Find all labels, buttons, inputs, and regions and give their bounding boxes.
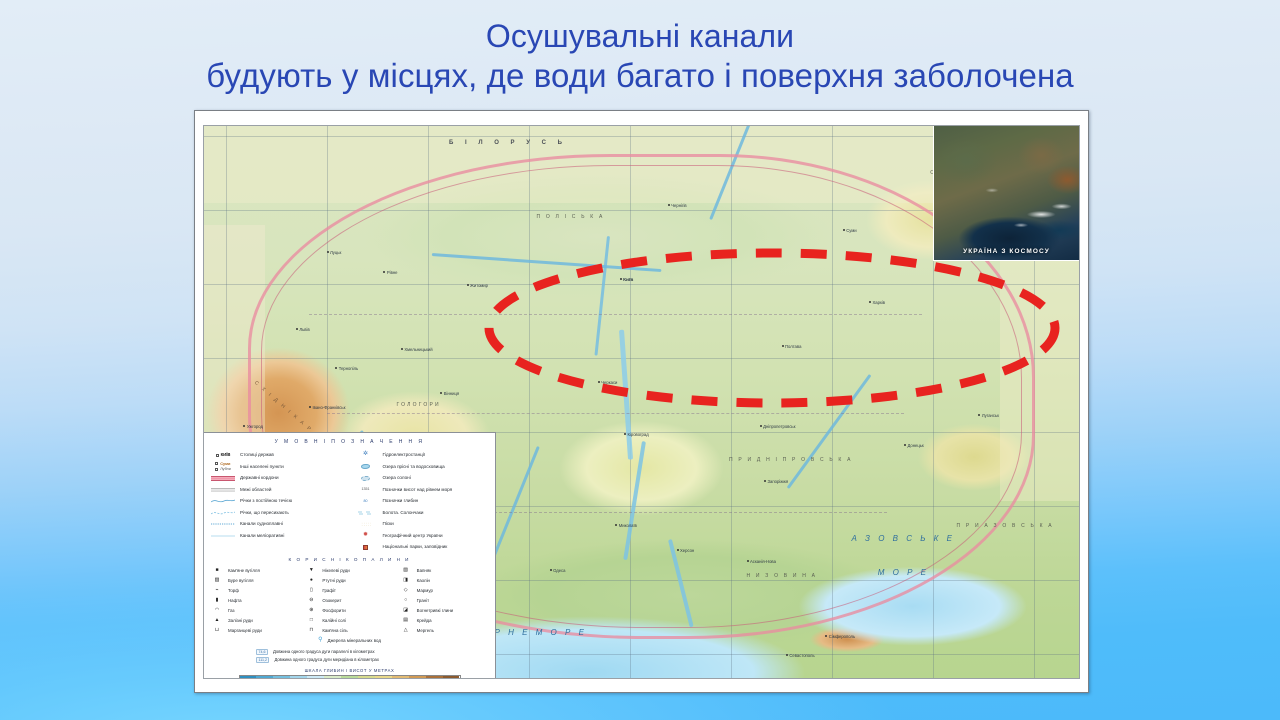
legend-label: Гідроелектростанції <box>383 452 426 458</box>
legend-label: Канали судноплавні <box>240 521 283 527</box>
map-legend-panel: У М О В Н І П О З Н А Ч Е Н Н Я КИЇВ Сто… <box>204 432 496 678</box>
mineral-item-iron-ore: ▲Залізні руди <box>210 615 300 625</box>
legend-item-permanent-rivers: Річки з постійною течією <box>210 495 347 507</box>
degree-meridian-label: Довжина одного градуса дуги меридіана в … <box>274 657 379 662</box>
marl-icon: △ <box>399 627 413 633</box>
mineral-item-mercury-ore: ●Ртутні руди <box>304 575 394 585</box>
degree-meridian-row: 111,2 Довжина одного градуса дуги мериді… <box>256 656 489 664</box>
legend-label: Національні парки, заповідник <box>383 544 448 550</box>
marsh-icon <box>353 510 379 516</box>
circle-marker-icon <box>215 462 218 465</box>
fresh-lake-icon <box>353 464 379 469</box>
minerals-column-1: ■Кам'яне вугілля ▨Буре вугілля ⌁Торф ▮На… <box>210 565 300 635</box>
hypsometric-swatch-9 <box>392 676 409 679</box>
intermittent-river-symbol <box>210 510 236 516</box>
legend-item-marshes: Болота. Солончаки <box>353 507 490 519</box>
oil-icon: ▮ <box>210 597 224 603</box>
national-park-icon <box>353 545 379 550</box>
mineral-item-manganese-ore: ⊔Марганцеві руди <box>210 625 300 635</box>
legend-column-left: КИЇВ Столиці держав Суми Лубни <box>210 449 347 553</box>
legend-item-hydro-plants: ✲ Гідроелектростанції <box>353 449 490 461</box>
presentation-slide: Осушувальні канали будують у місцях, де … <box>0 0 1280 720</box>
slide-title-block: Осушувальні канали будують у місцях, де … <box>0 16 1280 96</box>
peat-icon: ⌁ <box>210 587 224 593</box>
mineral-water-icon: ⚲ <box>318 637 322 645</box>
legend-label: Річки з постійною течією <box>240 498 292 504</box>
legend-item-geo-center: ✹ Географічний центр України <box>353 530 490 542</box>
square-marker-icon <box>216 454 219 457</box>
page-title-line-1: Осушувальні канали <box>0 16 1280 56</box>
hypsometric-swatch-4 <box>307 676 324 679</box>
minerals-column-3: ▧Вапняк ◨Каолін ◇Мармур ○Граніт ◪Вогнетр… <box>399 565 489 635</box>
mineral-item-marble: ◇Мармур <box>399 585 489 595</box>
mineral-item-peat: ⌁Торф <box>210 585 300 595</box>
rock-salt-icon: ⊓ <box>304 627 318 633</box>
legend-label: Озера солоні <box>383 475 411 481</box>
gas-icon: ◠ <box>210 607 224 613</box>
degree-parallel-badge: 74,6 <box>256 649 268 655</box>
hypsometric-color-bar <box>239 675 461 679</box>
depth-mark-icon: 80 <box>353 499 379 503</box>
legend-label: Столиці держав <box>240 452 274 458</box>
granite-icon: ○ <box>399 597 413 603</box>
mineral-label: Залізні руди <box>228 618 253 624</box>
legend-sample-kyiv: КИЇВ <box>221 453 231 457</box>
legend-label: Болота. Солончаки <box>383 510 424 516</box>
legend-heading: У М О В Н І П О З Н А Ч Е Н Н Я <box>210 439 489 445</box>
legend-sample-sumy: Суми <box>220 462 230 466</box>
marble-icon: ◇ <box>399 587 413 593</box>
state-border-symbol <box>210 476 236 481</box>
map-neatline: Б І Л О Р У С Ь Р О С І Я М О Л Д О В А … <box>203 125 1080 679</box>
graphite-icon: ▯ <box>304 587 318 593</box>
hypsometric-swatch-1 <box>256 676 273 679</box>
mineral-label: Ртутні руди <box>322 578 345 584</box>
legend-label: Державні кордони <box>240 475 279 481</box>
potassium-salt-icon: □ <box>304 617 318 623</box>
mineral-label: Кам'яне вугілля <box>228 568 260 574</box>
mineral-label: Торф <box>228 588 239 594</box>
nickel-ore-icon: ▼ <box>304 567 318 573</box>
legend-sample-lubny: Лубни <box>220 467 231 471</box>
settlements-symbol: Суми Лубни <box>210 462 236 472</box>
phosphorite-icon: ⊕ <box>304 607 318 613</box>
mineral-label: Газ <box>228 608 235 614</box>
hypsometric-swatch-2 <box>273 676 290 679</box>
legend-item-settlements: Суми Лубни Інші населені пункти <box>210 461 347 473</box>
legend-label: Позначки глибин <box>383 498 419 504</box>
degree-meridian-badge: 111,2 <box>256 657 269 663</box>
minerals-columns: ■Кам'яне вугілля ▨Буре вугілля ⌁Торф ▮На… <box>210 565 489 635</box>
mineral-label: Вогнетривкі глини <box>417 608 453 614</box>
refractory-clay-icon: ◪ <box>399 607 413 613</box>
sands-icon <box>353 522 379 527</box>
mercury-ore-icon: ● <box>304 577 318 583</box>
mineral-label: Калійні солі <box>322 618 346 624</box>
mineral-item-graphite: ▯Графіт <box>304 585 394 595</box>
legend-item-drainage-canals: Канали меліоративні <box>210 530 347 542</box>
legend-item-salt-lakes: Озера солоні <box>353 472 490 484</box>
legend-label: Позначки висот над рівнем моря <box>383 487 453 493</box>
mineral-label: Марганцеві руди <box>228 628 262 634</box>
hypsometric-swatch-8 <box>375 676 392 679</box>
legend-label: Межі областей <box>240 487 271 493</box>
minerals-column-2: ▼Нікелеві руди ●Ртутні руди ▯Графіт ⊖Озо… <box>304 565 394 635</box>
mineral-label: Крейда <box>417 618 432 624</box>
mineral-item-oil: ▮Нафта <box>210 595 300 605</box>
limestone-icon: ▧ <box>399 567 413 573</box>
mineral-item-ozokerite: ⊖Озокерит <box>304 595 394 605</box>
legend-label: Піски <box>383 521 394 527</box>
ozokerite-icon: ⊖ <box>304 597 318 603</box>
mineral-label: Каолін <box>417 578 430 584</box>
mineral-item-gas: ◠Газ <box>210 605 300 615</box>
hard-coal-icon: ■ <box>210 567 224 573</box>
mineral-item-nickel-ore: ▼Нікелеві руди <box>304 565 394 575</box>
mineral-item-refractory-clays: ◪Вогнетривкі глини <box>399 605 489 615</box>
mineral-label: Озокерит <box>322 598 341 604</box>
legend-item-oblast-borders: Межі областей <box>210 484 347 496</box>
legend-item-depth-marks: 80 Позначки глибин <box>353 495 490 507</box>
mineral-label: Кам'яна сіль <box>322 628 347 634</box>
legend-label: Географічний центр України <box>383 533 443 539</box>
mineral-item-potassium-salts: □Калійні солі <box>304 615 394 625</box>
circle-marker-icon <box>215 468 218 471</box>
legend-item-sands: Піски <box>353 518 490 530</box>
manganese-ore-icon: ⊔ <box>210 627 224 633</box>
legend-item-intermittent-rivers: Річки, що пересихають <box>210 507 347 519</box>
mineral-item-granite: ○Граніт <box>399 595 489 605</box>
mineral-label: Нікелеві руди <box>322 568 349 574</box>
iron-ore-icon: ▲ <box>210 617 224 623</box>
page-title-line-2: будують у місцях, де води багато і повер… <box>0 56 1280 96</box>
hypsometric-swatch-12 <box>443 676 460 679</box>
legend-label: Інші населені пункти <box>240 464 284 470</box>
capitals-symbol: КИЇВ <box>210 453 236 457</box>
mineral-label: Фосфорити <box>322 608 345 614</box>
degree-parallel-label: Довжина одного градуса дуги паралелі в к… <box>273 649 375 654</box>
mineral-water-label: Джерела мінеральних вод <box>328 638 381 644</box>
legend-item-capitals: КИЇВ Столиці держав <box>210 449 347 461</box>
hypsometric-swatch-6 <box>341 676 358 679</box>
mineral-label: Нафта <box>228 598 242 604</box>
legend-label: Озера прісні та водосховища <box>383 464 445 470</box>
navigable-canal-symbol <box>210 521 236 527</box>
satellite-inset-image[interactable]: УКРАЇНА З КОСМОСУ <box>933 126 1079 261</box>
mineral-label: Мергель <box>417 628 434 634</box>
mineral-label: Буре вугілля <box>228 578 254 584</box>
legend-column-right: ✲ Гідроелектростанції Озера прісні та во… <box>353 449 490 553</box>
chalk-icon: ▤ <box>399 617 413 623</box>
mineral-item-rock-salt: ⊓Кам'яна сіль <box>304 625 394 635</box>
degree-parallel-row: 74,6 Довжина одного градуса дуги паралел… <box>256 648 489 656</box>
mineral-label: Граніт <box>417 598 429 604</box>
degree-length-rows: 74,6 Довжина одного градуса дуги паралел… <box>210 648 489 664</box>
hypsometric-swatch-3 <box>290 676 307 679</box>
legend-item-height-marks: 1351 Позначки висот над рівнем моря <box>353 484 490 496</box>
mineral-item-phosphorites: ⊕Фосфорити <box>304 605 394 615</box>
brown-coal-icon: ▨ <box>210 577 224 583</box>
legend-columns: КИЇВ Столиці держав Суми Лубни <box>210 449 489 553</box>
legend-item-navigable-canals: Канали судноплавні <box>210 518 347 530</box>
legend-item-national-parks: Національні парки, заповідник <box>353 541 490 553</box>
geo-center-icon: ✹ <box>353 532 379 540</box>
mineral-item-hard-coal: ■Кам'яне вугілля <box>210 565 300 575</box>
mineral-label: Мармур <box>417 588 433 594</box>
satellite-inset-label: УКРАЇНА З КОСМОСУ <box>934 248 1079 255</box>
mineral-item-marl: △Мергель <box>399 625 489 635</box>
drainage-canal-symbol <box>210 533 236 539</box>
hypsometric-swatch-5 <box>324 676 341 679</box>
map-image[interactable]: Б І Л О Р У С Ь Р О С І Я М О Л Д О В А … <box>194 110 1089 693</box>
hypsometric-swatch-7 <box>358 676 375 679</box>
height-mark-icon: 1351 <box>353 487 379 491</box>
legend-item-mineral-water: ⚲ Джерела мінеральних вод <box>210 637 489 645</box>
mineral-item-kaolin: ◨Каолін <box>399 575 489 585</box>
hypsometric-swatch-10 <box>409 676 426 679</box>
legend-label: Річки, що пересихають <box>240 510 289 516</box>
legend-item-fresh-lakes: Озера прісні та водосховища <box>353 461 490 473</box>
hypsometric-scale-heading: ШКАЛА ГЛИБИН І ВИСОТ У МЕТРАХ <box>210 668 489 673</box>
legend-label: Канали меліоративні <box>240 533 284 539</box>
hypsometric-swatch-11 <box>426 676 443 679</box>
kaolin-icon: ◨ <box>399 577 413 583</box>
mineral-item-brown-coal: ▨Буре вугілля <box>210 575 300 585</box>
mineral-label: Графіт <box>322 588 336 594</box>
mineral-item-chalk: ▤Крейда <box>399 615 489 625</box>
mineral-label: Вапняк <box>417 568 431 574</box>
mineral-item-limestone: ▧Вапняк <box>399 565 489 575</box>
minerals-heading: К О Р И С Н І К О П А Л И Н И <box>210 557 489 563</box>
satellite-cloud-overlay <box>934 126 1079 260</box>
hydro-plant-icon: ✲ <box>353 451 379 459</box>
hypsometric-swatch-0 <box>240 676 257 679</box>
permanent-river-symbol <box>210 498 236 504</box>
legend-item-state-borders: Державні кордони <box>210 472 347 484</box>
oblast-border-symbol <box>210 488 236 492</box>
salt-lake-icon <box>353 476 379 481</box>
